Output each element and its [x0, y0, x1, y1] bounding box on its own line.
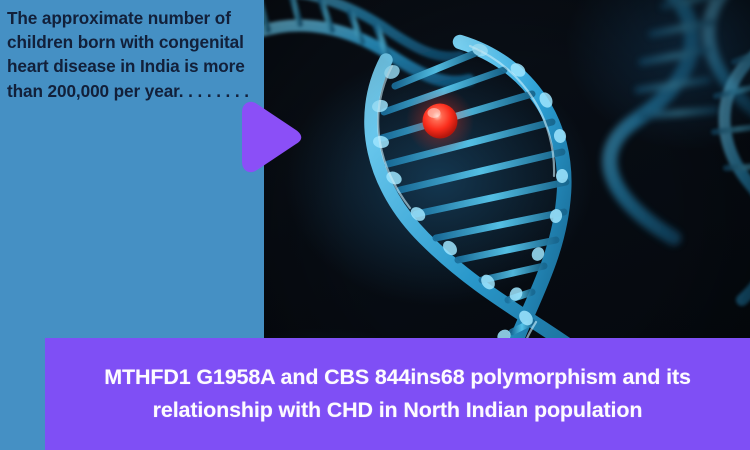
infographic-card: The approximate number of children born …	[0, 0, 750, 450]
play-triangle-icon[interactable]	[233, 99, 303, 175]
play-triangle-glyph	[233, 99, 303, 175]
paper-title-line-2: relationship with CHD in North Indian po…	[50, 394, 746, 427]
title-banner: MTHFD1 G1958A and CBS 844ins68 polymorph…	[45, 338, 750, 450]
quote-text: The approximate number of children born …	[7, 6, 255, 103]
paper-title-line-1: MTHFD1 G1958A and CBS 844ins68 polymorph…	[50, 361, 746, 394]
paper-title: MTHFD1 G1958A and CBS 844ins68 polymorph…	[48, 361, 748, 427]
red-mutation-sphere	[406, 87, 474, 155]
